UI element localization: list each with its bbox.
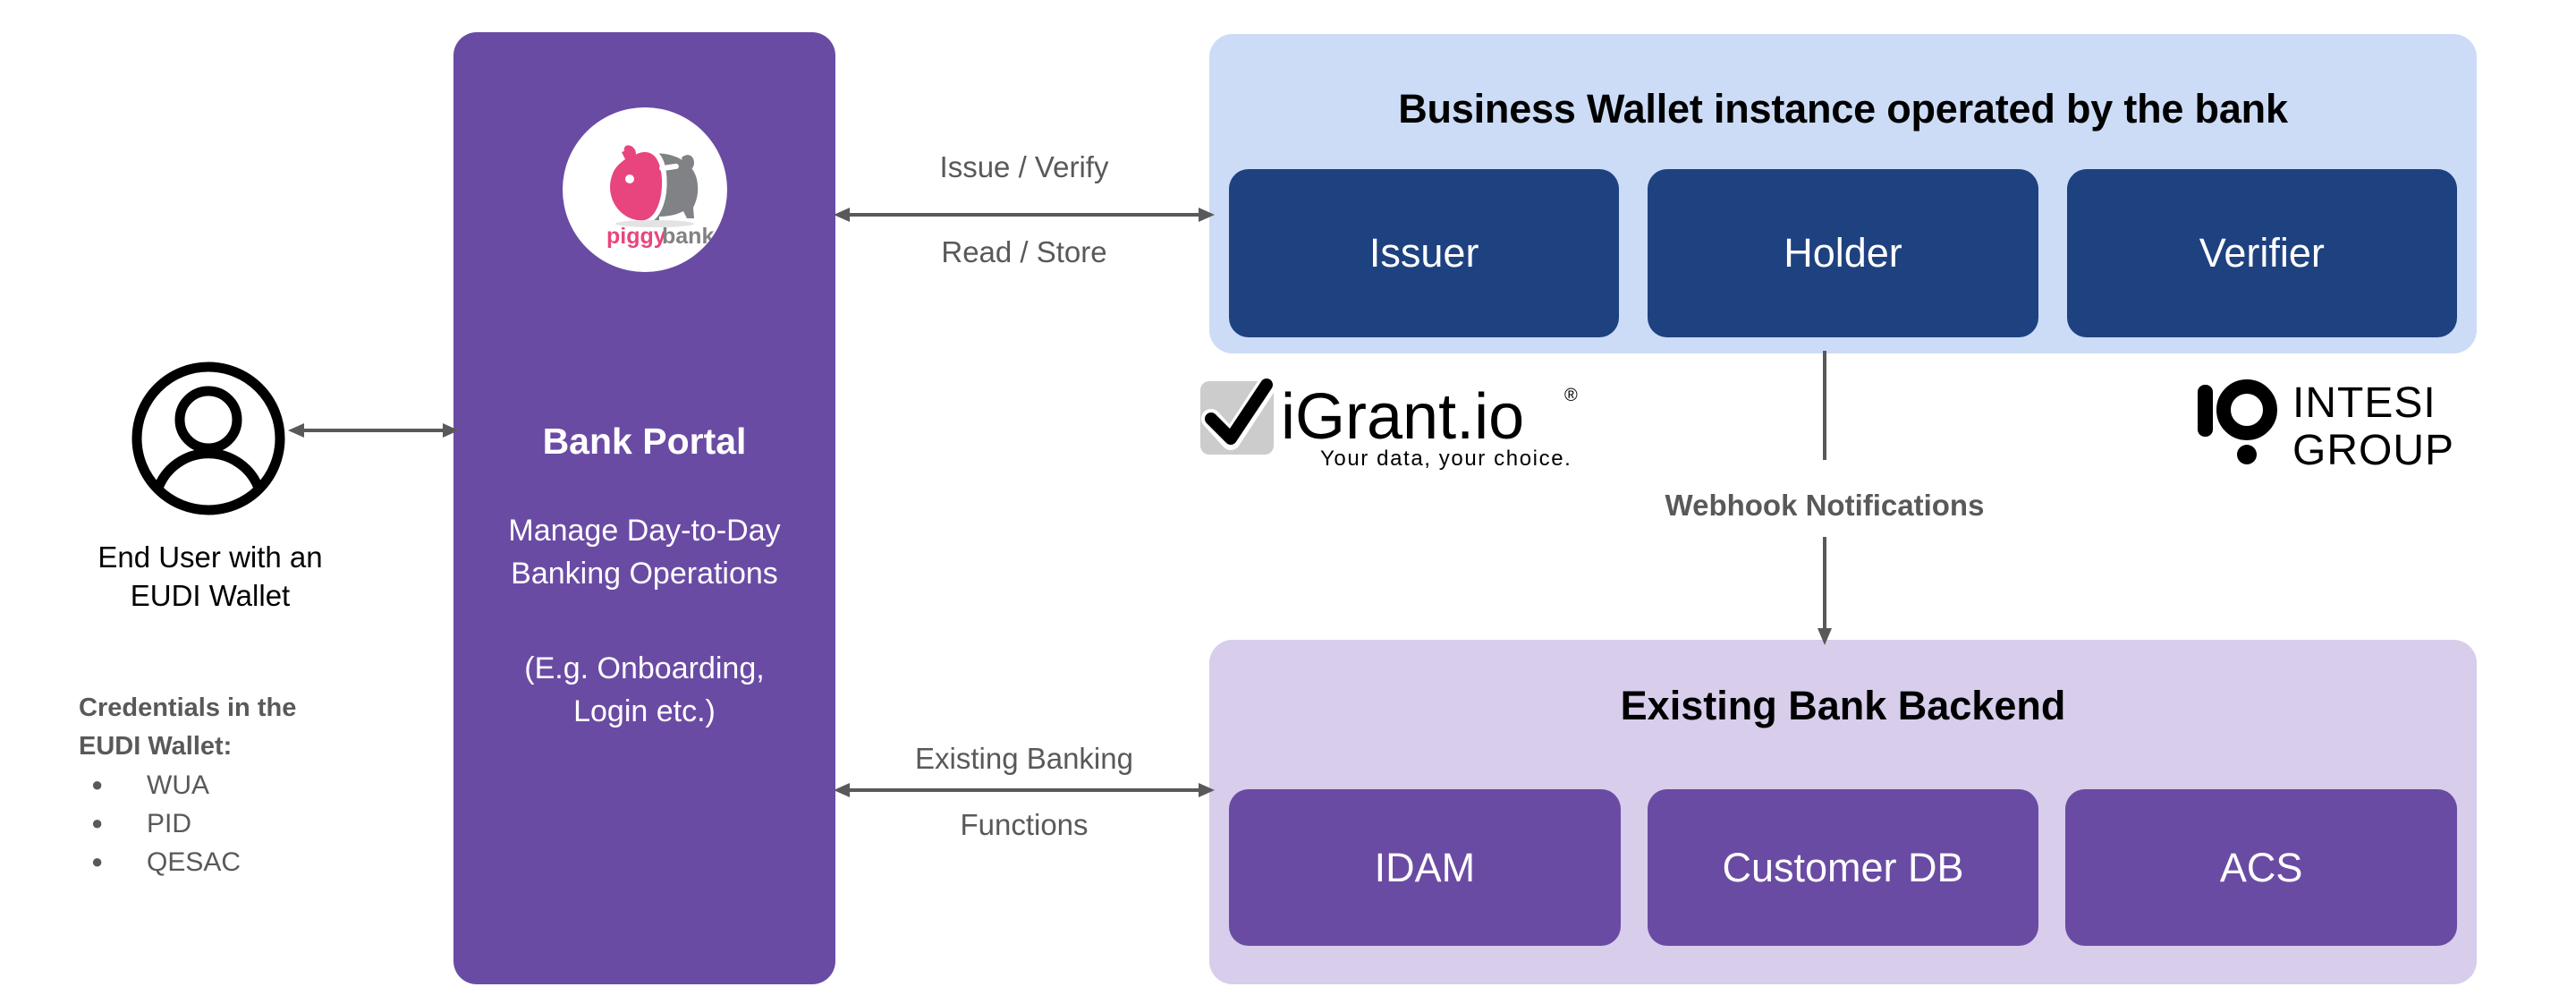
list-item: QESAC [79,843,454,881]
credentials-title-line1: Credentials in the [79,689,454,727]
piggybank-logo: piggy bank [563,107,727,272]
page-title: Bank Portal [453,421,835,463]
piggybank-wordmark-primary: piggy [606,224,666,249]
connector-label-webhook-notifications: Webhook Notifications [1606,488,2044,523]
user-avatar-icon [128,358,289,519]
backend-component-customer-db[interactable]: Customer DB [1648,789,2039,946]
bank-portal-description: Manage Day-to-Day Banking Operations [453,509,835,595]
bank-backend-container: Existing Bank Backend IDAM Customer DB A… [1209,640,2477,984]
connector-label-issue-verify: Issue / Verify [832,149,1216,185]
connector-label-read-store: Read / Store [832,234,1216,270]
wallet-role-verifier[interactable]: Verifier [2067,169,2457,337]
credentials-title: Credentials in the EUDI Wallet: [79,689,454,766]
intesi-wordmark-line2: GROUP [2292,427,2454,472]
registered-mark: ® [1564,386,1578,405]
wallet-role-issuer[interactable]: Issuer [1229,169,1619,337]
list-item: PID [79,804,454,843]
business-wallet-container: Business Wallet instance operated by the… [1209,34,2477,353]
connector-user-to-portal [286,417,461,444]
bank-backend-title: Existing Bank Backend [1209,683,2477,729]
business-wallet-title: Business Wallet instance operated by the… [1209,86,2477,132]
wallet-role-holder[interactable]: Holder [1648,169,2038,337]
backend-component-idam[interactable]: IDAM [1229,789,1621,946]
bank-portal-example-line2: Login etc.) [453,690,835,733]
credentials-block: Credentials in the EUDI Wallet: WUA PID … [79,689,454,881]
connector-portal-to-backend [832,777,1216,804]
diagram-canvas: End User with an EUDI Wallet Credentials… [0,0,2576,1004]
igrant-wordmark: iGrant.io [1281,381,1524,453]
intesi-group-logo: INTESI GROUP [2196,374,2491,472]
wallet-role-row: Issuer Holder Verifier [1229,169,2457,337]
backend-component-acs[interactable]: ACS [2065,789,2457,946]
list-item: WUA [79,766,454,804]
bank-portal-example-line1: (E.g. Onboarding, [453,647,835,690]
bank-portal-desc-line1: Manage Day-to-Day [453,509,835,552]
bank-portal-example: (E.g. Onboarding, Login etc.) [453,647,835,733]
bank-portal-card[interactable]: piggy bank Bank Portal Manage Day-to-Day… [453,32,835,984]
user-label-line2: EUDI Wallet [27,576,394,615]
bank-portal-desc-line2: Banking Operations [453,552,835,595]
connector-portal-to-wallet [832,201,1216,228]
backend-component-row: IDAM Customer DB ACS [1229,789,2457,946]
user-label-line1: End User with an [27,538,394,576]
user-label: End User with an EUDI Wallet [27,538,394,615]
connector-label-functions: Functions [832,807,1216,843]
igrant-tagline: Your data, your choice. [1320,447,1572,471]
credentials-title-line2: EUDI Wallet: [79,727,454,766]
piggybank-wordmark-secondary: bank [662,224,714,249]
igrant-io-logo: iGrant.io ® Your data, your choice. [1199,365,1628,474]
credentials-list: WUA PID QESAC [79,766,454,881]
intesi-wordmark-line1: INTESI [2292,379,2436,427]
connector-label-existing-banking: Existing Banking [832,741,1216,777]
